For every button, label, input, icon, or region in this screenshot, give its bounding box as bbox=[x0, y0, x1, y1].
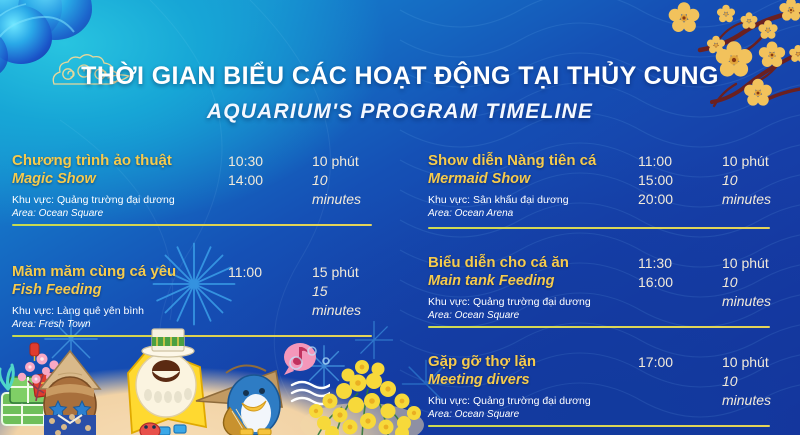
program-time: 10:30 bbox=[228, 152, 263, 171]
schedule-item[interactable]: Chương trình ảo thuật Magic Show 10:30 1… bbox=[12, 152, 372, 235]
duration-english: 10 minutes bbox=[722, 171, 771, 209]
schedule-column-right: Show diễn Nàng tiên cá Mermaid Show 11:0… bbox=[400, 152, 800, 435]
schedule-item[interactable]: Biểu diễn cho cá ăn Main tank Feeding 11… bbox=[428, 254, 770, 337]
petal-decoration bbox=[18, 0, 92, 40]
petal-decoration bbox=[0, 0, 62, 46]
program-duration: 10 phút 10 minutes bbox=[722, 353, 771, 410]
page-title-vietnamese: THỜI GIAN BIỂU CÁC HOẠT ĐỘNG TẠI THỦY CU… bbox=[0, 62, 800, 91]
duration-vietnamese: 10 phút bbox=[722, 152, 771, 171]
program-name-vietnamese: Măm măm cùng cá yêu bbox=[12, 263, 176, 281]
poster-header: THỜI GIAN BIỂU CÁC HOẠT ĐỘNG TẠI THỦY CU… bbox=[0, 62, 800, 124]
program-area-english: Area: Ocean Square bbox=[428, 408, 770, 421]
program-name-english: Magic Show bbox=[12, 170, 172, 189]
program-area-english: Area: Ocean Square bbox=[428, 309, 770, 322]
program-name-vietnamese: Chương trình ảo thuật bbox=[12, 152, 172, 170]
program-duration: 10 phút 10 minutes bbox=[312, 152, 372, 209]
schedule-item[interactable]: Gặp gỡ thợ lặn Meeting divers 17:00 10 p… bbox=[428, 353, 770, 435]
program-times: 10:30 14:00 bbox=[228, 152, 263, 190]
program-times: 11:30 16:00 bbox=[638, 254, 673, 292]
program-name-vietnamese: Biểu diễn cho cá ăn bbox=[428, 254, 569, 272]
program-time: 11:00 bbox=[228, 263, 262, 282]
program-duration: 10 phút 10 minutes bbox=[722, 152, 771, 209]
program-name-vietnamese: Gặp gỡ thợ lặn bbox=[428, 353, 536, 371]
schedule-item[interactable]: Show diễn Nàng tiên cá Mermaid Show 11:0… bbox=[428, 152, 770, 238]
program-area-vietnamese: Khu vực: Quảng trường đại dương bbox=[428, 394, 770, 408]
program-time: 17:00 bbox=[638, 353, 673, 372]
program-duration: 15 phút 15 minutes bbox=[312, 263, 372, 320]
item-divider bbox=[12, 224, 372, 226]
duration-english: 15 minutes bbox=[312, 282, 372, 320]
item-divider bbox=[428, 425, 770, 427]
program-time: 11:00 bbox=[638, 152, 673, 171]
program-time: 16:00 bbox=[638, 273, 673, 292]
duration-vietnamese: 10 phút bbox=[312, 152, 372, 171]
poster-canvas: THỜI GIAN BIỂU CÁC HOẠT ĐỘNG TẠI THỦY CU… bbox=[0, 0, 800, 435]
duration-vietnamese: 10 phút bbox=[722, 353, 771, 372]
program-area-vietnamese: Khu vực: Sân khấu đại dương bbox=[428, 193, 770, 207]
program-area-vietnamese: Khu vực: Quảng trường đại dương bbox=[428, 295, 770, 309]
program-time: 20:00 bbox=[638, 190, 673, 209]
duration-english: 10 minutes bbox=[312, 171, 372, 209]
item-divider bbox=[428, 227, 770, 229]
program-times: 11:00 bbox=[228, 263, 262, 282]
page-title-english: AQUARIUM'S PROGRAM TIMELINE bbox=[0, 100, 800, 124]
program-times: 17:00 bbox=[638, 353, 673, 372]
program-time: 15:00 bbox=[638, 171, 673, 190]
item-divider bbox=[428, 326, 770, 328]
item-divider bbox=[12, 335, 372, 337]
program-area-english: Area: Ocean Arena bbox=[428, 207, 770, 220]
program-times: 11:00 15:00 20:00 bbox=[638, 152, 673, 209]
program-name-vietnamese: Show diễn Nàng tiên cá bbox=[428, 152, 596, 170]
program-name-english: Fish Feeding bbox=[12, 281, 176, 300]
duration-english: 10 minutes bbox=[722, 372, 771, 410]
program-duration: 10 phút 10 minutes bbox=[722, 254, 771, 311]
program-time: 11:30 bbox=[638, 254, 673, 273]
program-name-english: Mermaid Show bbox=[428, 170, 596, 189]
program-time: 14:00 bbox=[228, 171, 263, 190]
schedule-item[interactable]: Măm măm cùng cá yêu Fish Feeding 11:00 1… bbox=[12, 263, 372, 346]
program-name-english: Meeting divers bbox=[428, 371, 536, 390]
duration-vietnamese: 10 phút bbox=[722, 254, 771, 273]
petal-decoration bbox=[0, 6, 52, 64]
schedule-column-left: Chương trình ảo thuật Magic Show 10:30 1… bbox=[0, 152, 400, 435]
duration-vietnamese: 15 phút bbox=[312, 263, 372, 282]
duration-english: 10 minutes bbox=[722, 273, 771, 311]
schedule-columns: Chương trình ảo thuật Magic Show 10:30 1… bbox=[0, 152, 800, 435]
program-name-english: Main tank Feeding bbox=[428, 272, 569, 291]
